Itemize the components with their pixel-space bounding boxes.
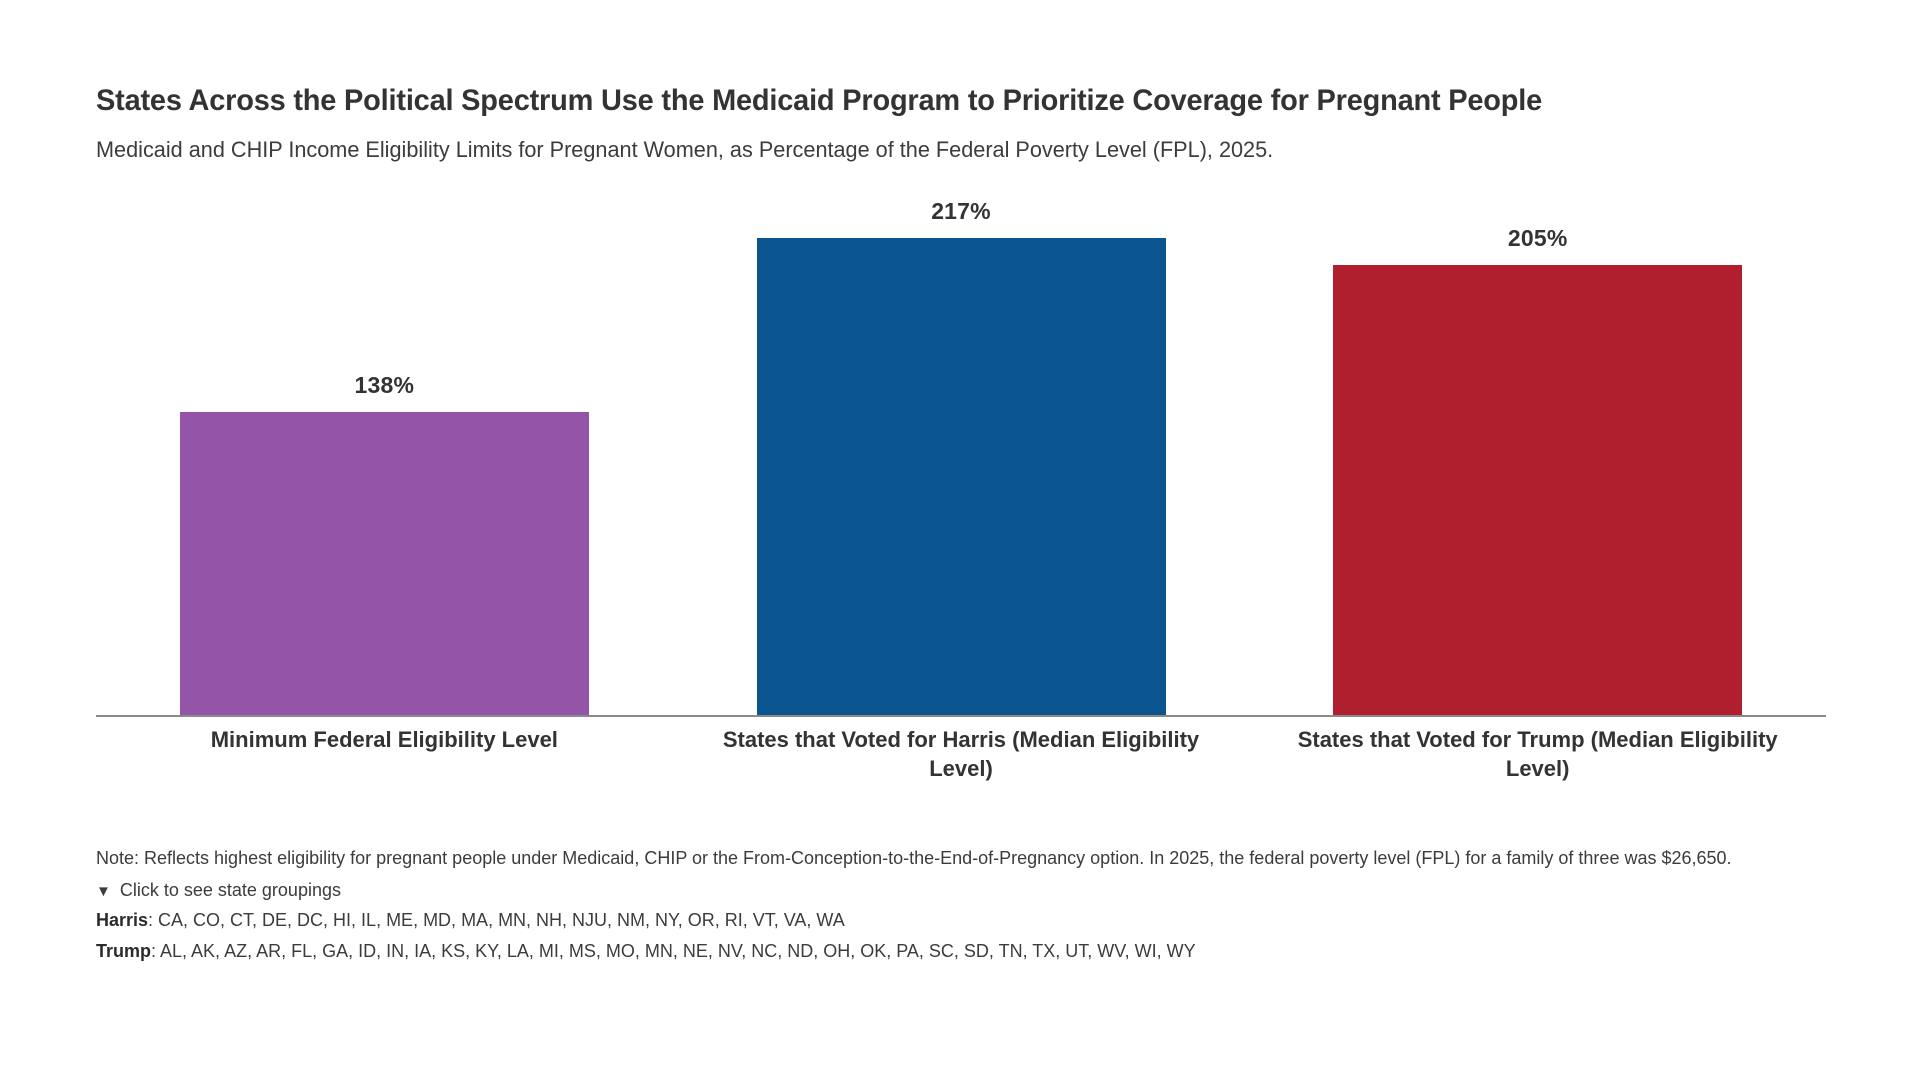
harris-states: : CA, CO, CT, DE, DC, HI, IL, ME, MD, MA… bbox=[148, 910, 845, 930]
trump-state-list: Trump: AL, AK, AZ, AR, FL, GA, ID, IN, I… bbox=[96, 939, 1836, 965]
trump-states: : AL, AK, AZ, AR, FL, GA, ID, IN, IA, KS… bbox=[151, 941, 1196, 961]
bar-slot-minimum-federal: 138% bbox=[96, 190, 673, 715]
chart-subtitle: Medicaid and CHIP Income Eligibility Lim… bbox=[96, 136, 1800, 165]
x-axis-line bbox=[96, 715, 1826, 717]
plot-area: 138% 217% 205% bbox=[96, 190, 1826, 717]
bar-value-label: 205% bbox=[1508, 225, 1568, 252]
category-label-minimum-federal: Minimum Federal Eligibility Level bbox=[96, 725, 673, 784]
page-title: States Across the Political Spectrum Use… bbox=[96, 82, 1765, 120]
state-groupings-toggle-label: Click to see state groupings bbox=[120, 878, 341, 904]
harris-label: Harris bbox=[96, 910, 148, 930]
bar-slot-trump: 205% bbox=[1249, 190, 1826, 715]
bar-trump[interactable] bbox=[1333, 265, 1742, 715]
bar-harris[interactable] bbox=[757, 238, 1166, 715]
category-label-trump: States that Voted for Trump (Median Elig… bbox=[1249, 725, 1826, 784]
harris-state-list: Harris: CA, CO, CT, DE, DC, HI, IL, ME, … bbox=[96, 908, 1836, 934]
bar-value-label: 217% bbox=[931, 198, 991, 225]
x-axis-category-labels: Minimum Federal Eligibility Level States… bbox=[96, 725, 1826, 784]
bar-value-label: 138% bbox=[355, 372, 415, 399]
chevron-down-icon: ▼ bbox=[96, 884, 111, 899]
chart-header: States Across the Political Spectrum Use… bbox=[96, 82, 1826, 164]
category-label-harris: States that Voted for Harris (Median Eli… bbox=[673, 725, 1250, 784]
trump-label: Trump bbox=[96, 941, 151, 961]
bar-minimum-federal[interactable] bbox=[180, 412, 589, 715]
bar-slot-harris: 217% bbox=[673, 190, 1250, 715]
note-text: Note: Reflects highest eligibility for p… bbox=[96, 846, 1808, 872]
bar-group: 138% 217% 205% bbox=[96, 190, 1826, 715]
chart-page: States Across the Political Spectrum Use… bbox=[0, 0, 1920, 1080]
footnotes: Note: Reflects highest eligibility for p… bbox=[96, 846, 1836, 965]
state-groupings-toggle[interactable]: ▼ Click to see state groupings bbox=[96, 878, 341, 904]
